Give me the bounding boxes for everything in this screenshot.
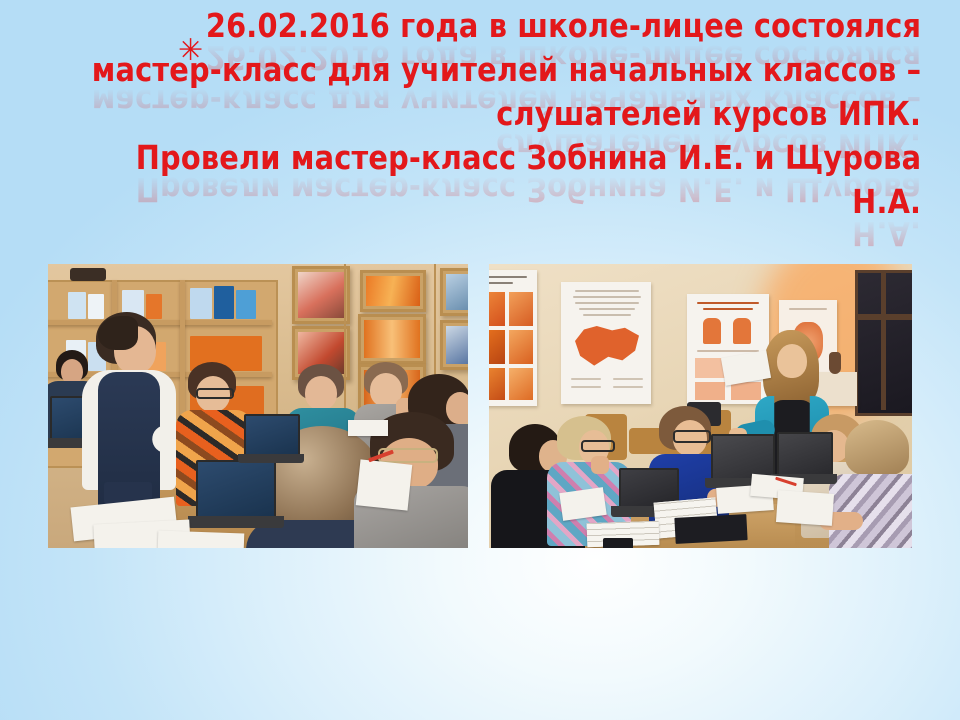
poster-legend-line <box>571 386 601 388</box>
poster-legend-line <box>613 378 643 380</box>
poster-heading-line <box>489 276 527 278</box>
phone <box>603 538 633 548</box>
wall-photo-image <box>446 274 468 310</box>
shelf-item <box>190 288 212 319</box>
paper-sheet <box>348 420 388 436</box>
photo-right <box>489 264 912 548</box>
presenter-head <box>777 344 807 378</box>
teacher-hair-front <box>98 316 138 350</box>
poster-text-line <box>579 308 635 310</box>
diagram-box <box>695 382 725 400</box>
paper-sheet <box>158 531 245 548</box>
poster-text-line <box>789 308 827 310</box>
poster-tile <box>509 330 533 364</box>
poster-legend-line <box>571 378 601 380</box>
wall-photo-frame <box>440 320 468 370</box>
poster-text-line <box>697 350 759 352</box>
wall-photo-image <box>446 326 468 364</box>
title-line-5: Н.А. Н.А. <box>0 182 960 226</box>
poster-tile <box>489 292 505 326</box>
title-line-1: 26.02.2016 года в школе-лицее состоялся … <box>0 6 960 50</box>
participant-head <box>446 392 468 424</box>
folder <box>674 514 747 544</box>
laptop-screen <box>196 460 276 522</box>
title-line-3-text: слушателей курсов ИПК. <box>29 94 960 134</box>
poster-text-line <box>573 296 641 298</box>
participant-body <box>829 474 912 548</box>
shelf-top-object <box>70 268 106 281</box>
laptop-base <box>188 516 284 528</box>
laptop-screen <box>777 432 833 480</box>
title-line-1-text: 26.02.2016 года в школе-лицее состоялся <box>29 6 960 46</box>
participant-hand <box>591 456 609 474</box>
participant-hair <box>845 420 909 476</box>
shelf-item <box>68 292 86 319</box>
poster-text-line <box>697 302 759 304</box>
window-mullion <box>881 270 886 410</box>
shelf-item <box>146 294 162 319</box>
slide-title: ✳ 26.02.2016 года в школе-лицее состоялс… <box>0 6 960 246</box>
poster-text-line <box>703 308 753 310</box>
eyeglasses-icon <box>673 430 711 443</box>
diagram-figure <box>733 318 751 344</box>
map-shape <box>575 326 639 370</box>
eyeglasses-icon <box>581 440 615 452</box>
title-line-5-text: Н.А. <box>29 182 960 222</box>
photo-left <box>48 264 468 548</box>
wall-poster-map <box>561 282 651 404</box>
diagram-box <box>731 382 761 400</box>
notebook <box>776 490 834 526</box>
laptop-base <box>238 454 304 463</box>
shelf-board <box>48 320 272 325</box>
wall-poster-tiles <box>489 270 537 406</box>
paper-sheet <box>356 459 413 510</box>
title-line-2-text: мастер-класс для учителей начальных клас… <box>29 50 960 90</box>
wall-photo-frame <box>292 266 350 324</box>
shelf-item <box>214 286 234 319</box>
vase <box>829 352 841 374</box>
wall-photo-frame <box>440 268 468 316</box>
shelf-item <box>88 294 104 319</box>
poster-legend-line <box>613 386 643 388</box>
poster-text-line <box>583 314 631 316</box>
participant-head <box>305 376 337 410</box>
poster-tile <box>489 368 505 400</box>
shelf-item <box>236 290 256 319</box>
presentation-slide: ✳ 26.02.2016 года в школе-лицее состоялс… <box>0 0 960 720</box>
poster-tile <box>489 330 505 364</box>
poster-tile <box>509 368 533 400</box>
title-line-2: мастер-класс для учителей начальных клас… <box>0 50 960 94</box>
eyeglasses-icon <box>196 388 234 399</box>
title-line-4: Провели мастер-класс Зобнина И.Е. и Щуро… <box>0 138 960 182</box>
poster-heading-line <box>489 282 513 284</box>
diagram-figure <box>703 318 721 344</box>
title-line-3: слушателей курсов ИПК. слушателей курсов… <box>0 94 960 138</box>
wall-photo-image <box>298 272 344 318</box>
poster-text-line <box>575 290 639 292</box>
poster-tile <box>509 292 533 326</box>
poster-text-line <box>575 302 639 304</box>
title-line-4-text: Провели мастер-класс Зобнина И.Е. и Щуро… <box>29 138 960 178</box>
wall-poster-diagram <box>687 294 769 404</box>
